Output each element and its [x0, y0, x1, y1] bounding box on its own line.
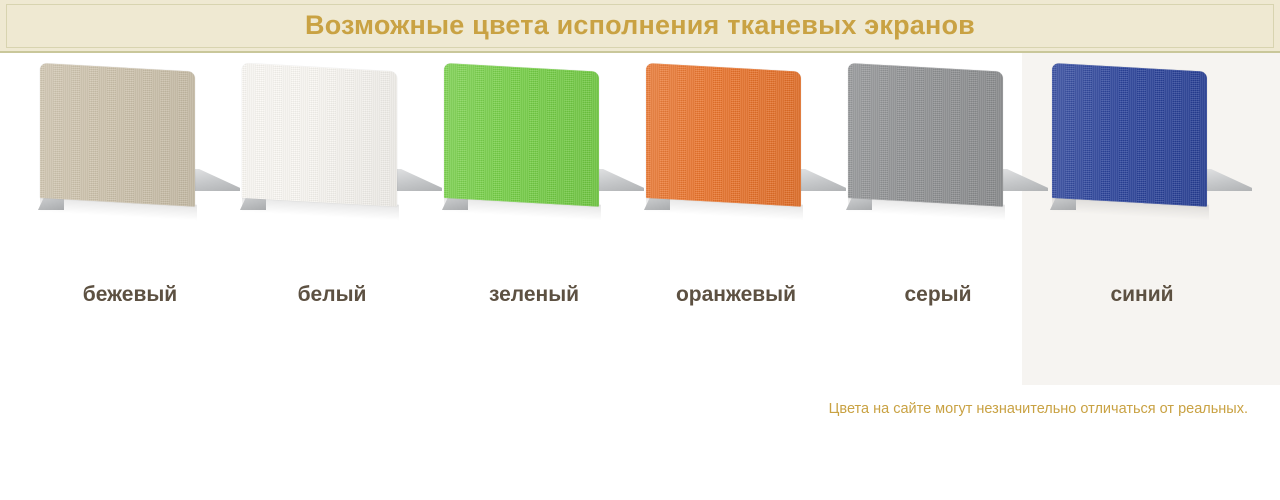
- color-gallery: бежевыйбелыйзеленыйоранжевыйсерыйсиний Ц…: [0, 53, 1280, 500]
- color-label: серый: [838, 283, 1038, 307]
- screen-fabric-board: [444, 63, 599, 207]
- screen-fabric-board: [1052, 63, 1207, 207]
- screen-swatch-5[interactable]: синий: [1042, 53, 1242, 313]
- color-label: зеленый: [434, 283, 634, 307]
- screen-fabric-board: [242, 63, 397, 207]
- screen-fabric-board: [848, 63, 1003, 207]
- color-label: оранжевый: [636, 283, 836, 307]
- page-title: Возможные цвета исполнения тканевых экра…: [0, 0, 1280, 51]
- header-banner: Возможные цвета исполнения тканевых экра…: [0, 0, 1280, 53]
- color-label: белый: [232, 283, 432, 307]
- screen-swatch-1[interactable]: белый: [232, 53, 432, 313]
- screen-swatch-0[interactable]: бежевый: [30, 53, 230, 313]
- screen-fabric-board: [646, 63, 801, 207]
- screen-row: бежевыйбелыйзеленыйоранжевыйсерыйсиний: [0, 53, 1280, 313]
- disclaimer-note: Цвета на сайте могут незначительно отлич…: [0, 401, 1248, 417]
- screen-swatch-3[interactable]: оранжевый: [636, 53, 836, 313]
- screen-fabric-board: [40, 63, 195, 207]
- color-label: синий: [1042, 283, 1242, 307]
- screen-swatch-4[interactable]: серый: [838, 53, 1038, 313]
- color-label: бежевый: [30, 283, 230, 307]
- screen-swatch-2[interactable]: зеленый: [434, 53, 634, 313]
